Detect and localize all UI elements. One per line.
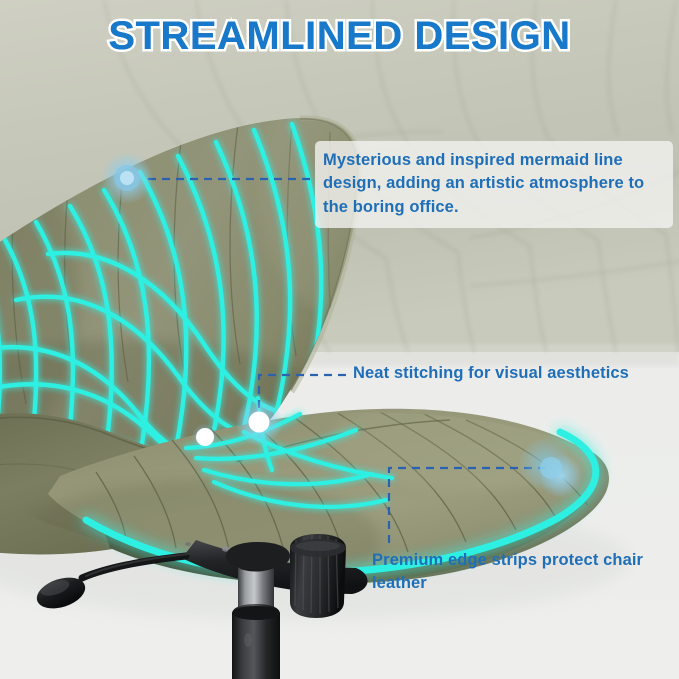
callout-premium-edge-strips: Premium edge strips protect chair leathe… bbox=[372, 549, 672, 596]
hotspot-backrest[interactable] bbox=[101, 152, 153, 204]
page-title: STREAMLINED DESIGN STREAMLINED DESIGN bbox=[0, 14, 679, 59]
callout-mermaid-line-design: Mysterious and inspired mermaid line des… bbox=[315, 141, 673, 228]
hotspot-edge-strip[interactable] bbox=[520, 439, 583, 498]
hotspot-seat-side[interactable] bbox=[192, 424, 218, 450]
product-infographic: STREAMLINED DESIGN STREAMLINED DESIGN My… bbox=[0, 0, 679, 679]
hotspot-seat-junction[interactable] bbox=[235, 398, 283, 446]
page-title-fill: STREAMLINED DESIGN bbox=[0, 14, 679, 59]
callout-neat-stitching: Neat stitching for visual aesthetics bbox=[353, 362, 679, 385]
leader-line-edge-strip bbox=[389, 468, 546, 545]
